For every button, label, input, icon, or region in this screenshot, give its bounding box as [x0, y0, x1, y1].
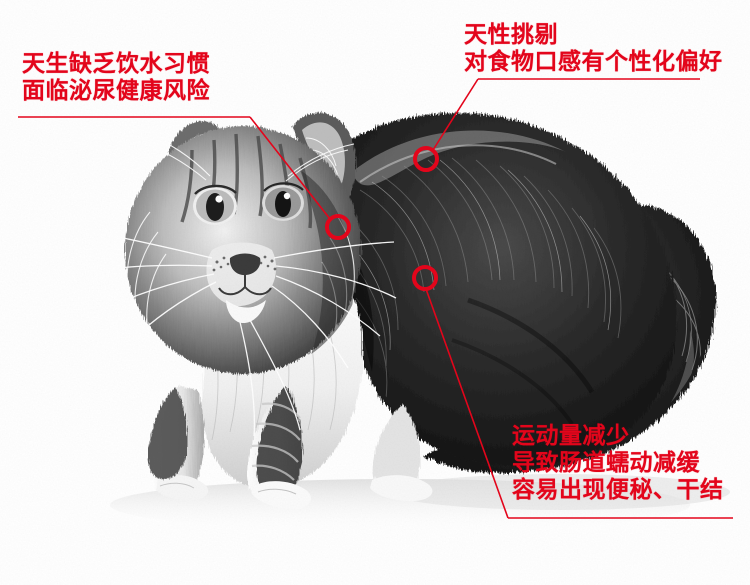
poster-canvas: 天生缺乏饮水习惯 面临泌尿健康风险 天性挑剔 对食物口感有个性化偏好 运动量减少… [0, 0, 750, 585]
callout-top-right-line-2: 对食物口感有个性化偏好 [464, 49, 723, 76]
callout-bottom-right-text: 运动量减少 导致肠道蠕动减缓 容易出现便秘、干结 [512, 423, 724, 504]
callout-bottom-right-line-2: 导致肠道蠕动减缓 [512, 450, 724, 477]
callout-bottom-right-line-1: 运动量减少 [512, 423, 724, 450]
callout-left-line-2: 面临泌尿健康风险 [22, 78, 210, 105]
callout-top-right-line-1: 天性挑剔 [464, 22, 723, 49]
callout-left-line-1: 天生缺乏饮水习惯 [22, 51, 210, 78]
callout-bottom-right-line-3: 容易出现便秘、干结 [512, 477, 724, 504]
callout-top-right-text: 天性挑剔 对食物口感有个性化偏好 [464, 22, 723, 76]
callout-left-text: 天生缺乏饮水习惯 面临泌尿健康风险 [22, 51, 210, 105]
